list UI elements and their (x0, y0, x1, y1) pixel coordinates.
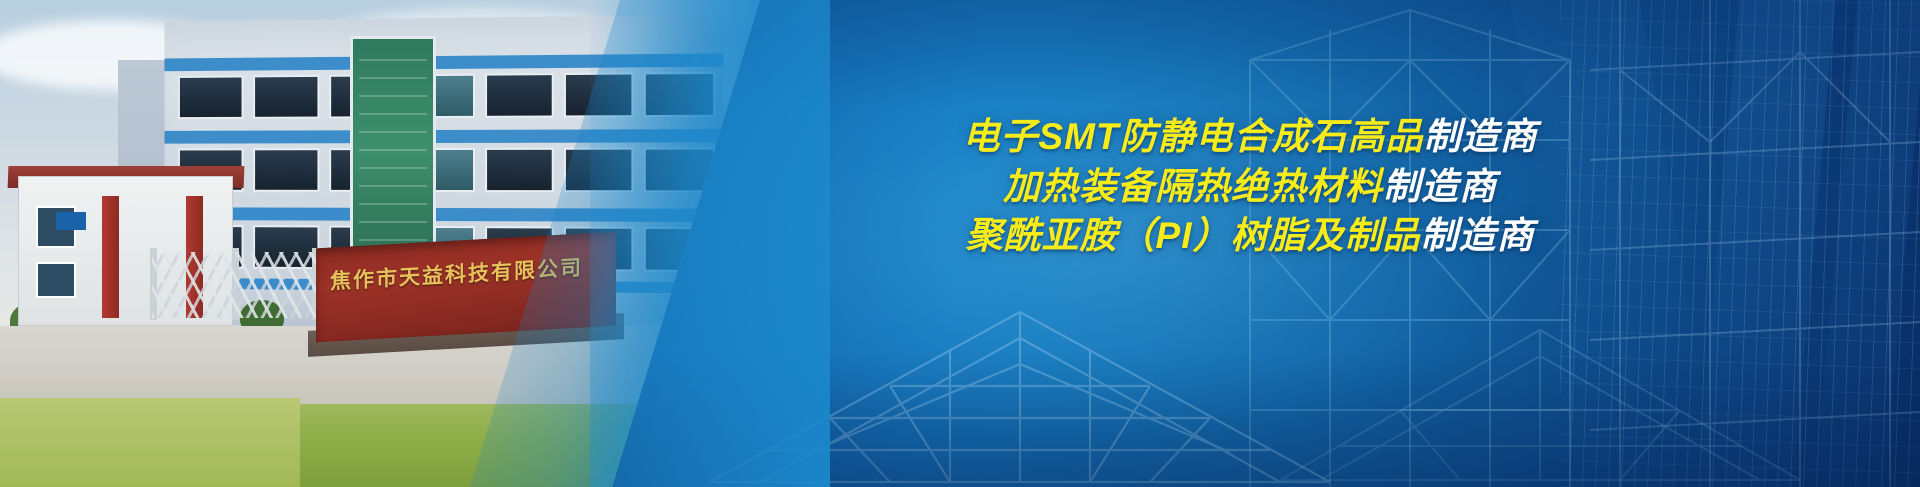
headline-line-1: 电子SMT防静电合成石高品制造商 (690, 112, 1810, 162)
hero-banner: 焦作市天益科技有限公司 电子SMT防静电合成石高品制造商 加热装备隔热绝热材料制… (0, 0, 1920, 487)
headline-line-1-plain: 制造商 (1424, 116, 1538, 157)
headline-line-2: 加热装备隔热绝热材料制造商 (690, 162, 1810, 212)
window (178, 75, 244, 119)
gatehouse-window (36, 262, 76, 298)
headline-line-3-highlight: 聚酰亚胺（PI）树脂及制品 (966, 215, 1421, 256)
lawn-foreground (0, 398, 300, 487)
headline-line-3-plain: 制造商 (1420, 215, 1534, 256)
headline-line-3: 聚酰亚胺（PI）树脂及制品制造商 (690, 211, 1810, 261)
window (485, 148, 554, 192)
window (485, 73, 554, 118)
gatehouse-blue-plaque (56, 212, 86, 230)
headline-block: 电子SMT防静电合成石高品制造商 加热装备隔热绝热材料制造商 聚酰亚胺（PI）树… (690, 112, 1810, 261)
window (253, 75, 319, 119)
red-pillar (102, 196, 119, 318)
window (253, 148, 319, 192)
headline-line-2-highlight: 加热装备隔热绝热材料 (1003, 166, 1383, 207)
headline-line-1-highlight: 电子SMT防静电合成石高品 (962, 116, 1423, 157)
headline-line-2-plain: 制造商 (1383, 166, 1497, 207)
